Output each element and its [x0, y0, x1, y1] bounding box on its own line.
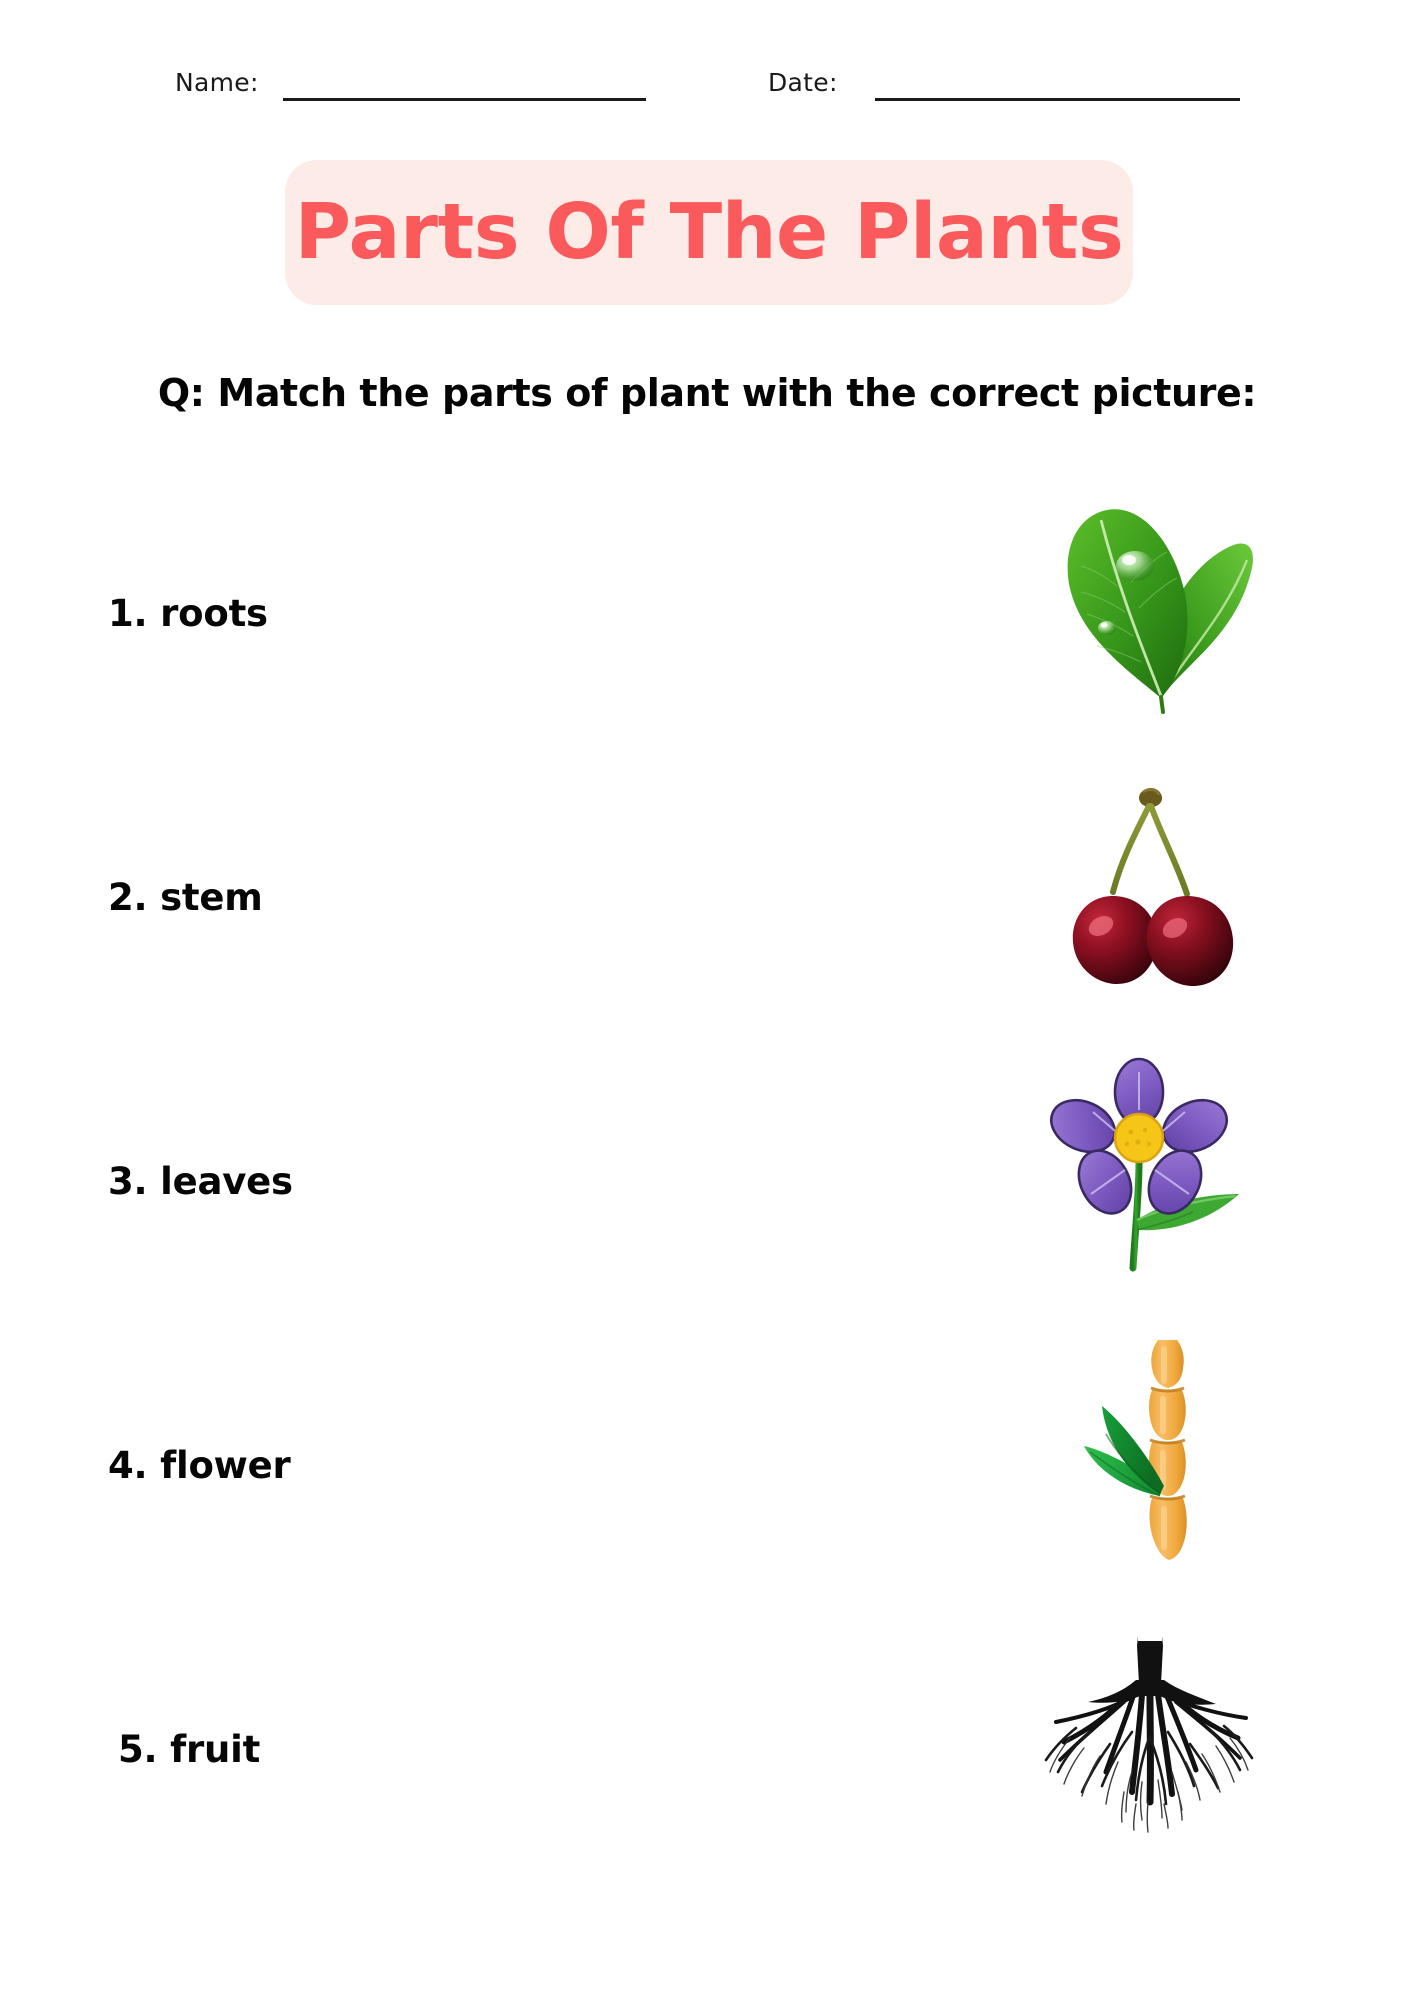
- leaves-icon: [1035, 486, 1265, 716]
- name-label: Name:: [175, 68, 259, 97]
- match-term-2[interactable]: 2. stem: [108, 876, 263, 919]
- title-banner: Parts Of The Plants: [285, 160, 1133, 305]
- matching-area: 1. roots: [0, 470, 1414, 1890]
- header-row: Name: Date:: [0, 0, 1414, 120]
- instruction-text: Q: Match the parts of plant with the cor…: [0, 371, 1414, 415]
- match-picture-4[interactable]: [1025, 1328, 1275, 1578]
- match-row: 5. fruit: [0, 1606, 1414, 1890]
- flower-icon: [1035, 1054, 1265, 1284]
- match-row: 1. roots: [0, 470, 1414, 754]
- match-term-5[interactable]: 5. fruit: [118, 1728, 260, 1771]
- date-write-line[interactable]: [875, 98, 1240, 101]
- match-term-4[interactable]: 4. flower: [108, 1444, 291, 1487]
- page-title: Parts Of The Plants: [295, 194, 1124, 271]
- match-term-3[interactable]: 3. leaves: [108, 1160, 293, 1203]
- roots-icon: [1030, 1632, 1270, 1842]
- match-row: 4. flower: [0, 1322, 1414, 1606]
- match-term-1[interactable]: 1. roots: [108, 592, 268, 635]
- match-row: 2. stem: [0, 754, 1414, 1038]
- name-write-line[interactable]: [283, 98, 646, 101]
- match-row: 3. leaves: [0, 1038, 1414, 1322]
- match-picture-3[interactable]: [1025, 1044, 1275, 1294]
- date-label: Date:: [768, 68, 838, 97]
- match-picture-1[interactable]: [1025, 476, 1275, 726]
- bamboo-stem-icon: [1040, 1338, 1260, 1568]
- match-picture-2[interactable]: [1025, 760, 1275, 1010]
- cherries-icon: [1045, 778, 1255, 993]
- match-picture-5[interactable]: [1025, 1612, 1275, 1862]
